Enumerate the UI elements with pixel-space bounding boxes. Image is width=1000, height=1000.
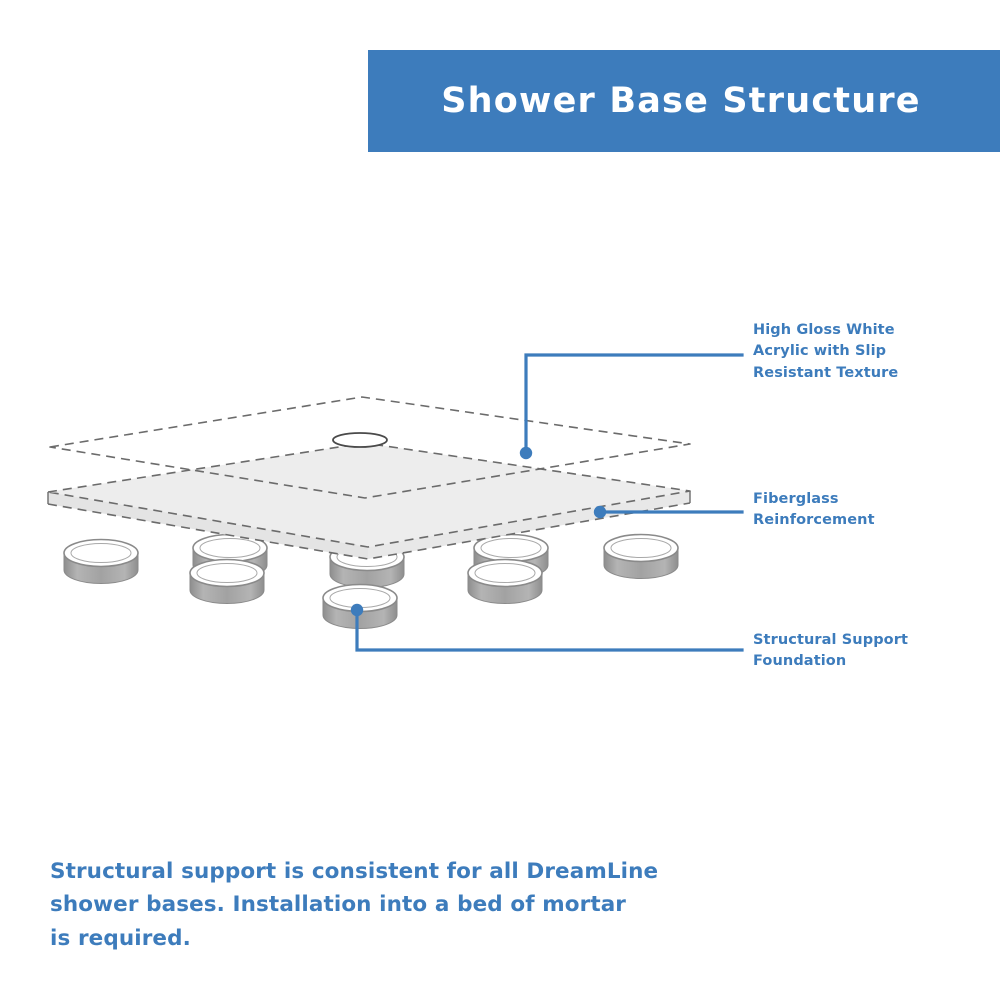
fiberglass-slab-layer <box>48 443 690 559</box>
slab-top-face <box>48 443 690 547</box>
page-root: Shower Base Structure <box>0 0 1000 1000</box>
callout-label-fiberglass: Fiberglass Reinforcement <box>753 489 983 532</box>
support-ring <box>604 535 678 579</box>
drain-opening-icon <box>333 433 387 447</box>
title-banner: Shower Base Structure <box>368 50 1000 152</box>
leader-dot-fiberglass <box>594 506 606 518</box>
page-title: Shower Base Structure <box>441 84 926 119</box>
leader-dot-acrylic <box>520 447 532 459</box>
leader-line-support <box>357 610 742 650</box>
leader-line-acrylic <box>526 355 742 453</box>
support-ring <box>190 560 264 604</box>
support-ring <box>64 540 138 584</box>
footer-note: Structural support is consistent for all… <box>50 855 690 955</box>
leader-dot-support <box>351 604 363 616</box>
support-ring <box>468 560 542 604</box>
callout-label-support: Structural Support Foundation <box>753 630 983 673</box>
callout-label-acrylic: High Gloss White Acrylic with Slip Resis… <box>753 320 983 384</box>
